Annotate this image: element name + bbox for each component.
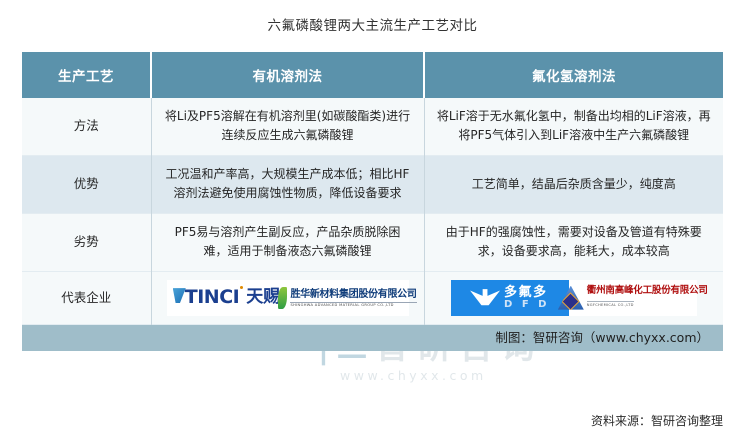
nangaofeng-brand-cn: 衢州南高峰化工股份有限公司: [587, 286, 708, 296]
dfd-text: 多氟多 D F D: [504, 286, 549, 310]
dfd-brand-en: D F D: [504, 300, 549, 310]
shenghua-brand-cn: 胜华新材料集团股份有限公司: [290, 289, 416, 300]
page-title: 六氟磷酸锂两大主流生产工艺对比: [0, 14, 745, 34]
cell-advantage-organic: 工况温和产率高，大规模生产成本低；相比HF溶剂法避免使用腐蚀性物质，降低设备要求: [151, 155, 424, 213]
dfd-logo: 多氟多 D F D: [451, 280, 569, 316]
comparison-table: 生产工艺 有机溶剂法 氟化氢溶剂法 方法 将Li及PF5溶解在有机溶剂里(如碳酸…: [22, 52, 723, 325]
table-row: 劣势 PF5易与溶剂产生副反应，产品杂质脱除困难，适用于制备液态六氟磷酸锂 由于…: [22, 213, 723, 271]
row-label-representative-companies: 代表企业: [22, 271, 151, 324]
shenghua-text: 胜华新材料集团股份有限公司 SHINGHWA ADVANCED MATERIAL…: [290, 287, 416, 308]
cell-companies-organic: TINCI 天赐 胜华新材料集团股份有限公司 SHINGHWA ADVANCED…: [151, 271, 424, 324]
tinci-logo: TINCI 天赐: [167, 280, 287, 316]
table-row: 优势 工况温和产率高，大规模生产成本低；相比HF溶剂法避免使用腐蚀性物质，降低设…: [22, 155, 723, 213]
column-header-process: 生产工艺: [22, 52, 151, 98]
table-header-row: 生产工艺 有机溶剂法 氟化氢溶剂法: [22, 52, 723, 98]
source-note: 资料来源：智研咨询整理: [591, 412, 723, 429]
shenghua-brand-en: SHINGHWA ADVANCED MATERIAL GROUP CO.,LTD: [290, 302, 416, 308]
leaf-icon: [278, 287, 287, 309]
cell-method-organic: 将Li及PF5溶解在有机溶剂里(如碳酸酯类)进行连续反应生成六氟磷酸锂: [151, 98, 424, 155]
logo-group-organic: TINCI 天赐 胜华新材料集团股份有限公司 SHINGHWA ADVANCED…: [162, 280, 414, 316]
nangaofeng-logo: 衢州南高峰化工股份有限公司 NGFCHEMICAL CO.,LTD: [569, 280, 697, 316]
bird-icon: [470, 289, 500, 306]
watermark-url-text: www.chyxx.com: [340, 368, 718, 383]
cell-advantage-hf: 工艺简单，结晶后杂质含量少，纯度高: [424, 155, 723, 213]
table-row: 方法 将Li及PF5溶解在有机溶剂里(如碳酸酯类)进行连续反应生成六氟磷酸锂 将…: [22, 98, 723, 155]
logo-group-hf: 多氟多 D F D 衢州南高峰化工股份有限公司 NGFCHEMICAL CO.,…: [435, 280, 714, 316]
column-header-organic-solvent: 有机溶剂法: [151, 52, 424, 98]
comparison-table-wrapper: 生产工艺 有机溶剂法 氟化氢溶剂法 方法 将Li及PF5溶解在有机溶剂里(如碳酸…: [22, 52, 723, 351]
table-row-companies: 代表企业 TINCI 天赐 胜华新材料集团股份有限公司: [22, 271, 723, 324]
row-label-method: 方法: [22, 98, 151, 155]
row-label-disadvantage: 劣势: [22, 213, 151, 271]
table-body: 方法 将Li及PF5溶解在有机溶剂里(如碳酸酯类)进行连续反应生成六氟磷酸锂 将…: [22, 98, 723, 324]
row-label-advantage: 优势: [22, 155, 151, 213]
tinci-brand-cn: 天赐: [246, 284, 280, 312]
nangaofeng-brand-en: NGFCHEMICAL CO.,LTD: [587, 301, 634, 307]
table-footer-credit: 制图：智研咨询（www.chyxx.com）: [22, 325, 723, 351]
tinci-brand-en: TINCI: [185, 282, 239, 313]
column-header-hf-solvent: 氟化氢溶剂法: [424, 52, 723, 98]
shenghua-logo: 胜华新材料集团股份有限公司 SHINGHWA ADVANCED MATERIAL…: [287, 280, 409, 316]
nangaofeng-text: 衢州南高峰化工股份有限公司 NGFCHEMICAL CO.,LTD: [587, 286, 708, 309]
cell-companies-hf: 多氟多 D F D 衢州南高峰化工股份有限公司 NGFCHEMICAL CO.,…: [424, 271, 723, 324]
cell-method-hf: 将LiF溶于无水氟化氢中，制备出均相的LiF溶液，再将PF5气体引入到LiF溶液…: [424, 98, 723, 155]
dfd-brand-cn: 多氟多: [504, 286, 549, 299]
cell-disadvantage-organic: PF5易与溶剂产生副反应，产品杂质脱除困难，适用于制备液态六氟磷酸锂: [151, 213, 424, 271]
tinci-dot-icon: [240, 286, 243, 289]
table-header: 生产工艺 有机溶剂法 氟化氢溶剂法: [22, 52, 723, 98]
cell-disadvantage-hf: 由于HF的强腐蚀性，需要对设备及管道有特殊要求，设备要求高，能耗大，成本较高: [424, 213, 723, 271]
